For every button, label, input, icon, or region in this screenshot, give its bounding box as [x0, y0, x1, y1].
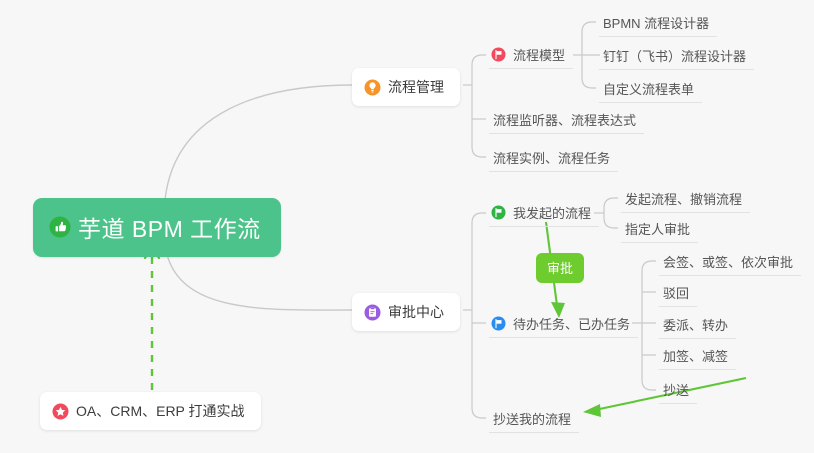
lightbulb-icon: [364, 79, 381, 96]
node-instance-task[interactable]: 流程实例、流程任务: [489, 145, 618, 172]
flag-icon: [491, 316, 506, 331]
node-listener-expression-label: 流程监听器、流程表达式: [493, 110, 636, 129]
mindmap-canvas[interactable]: 芋道 BPM 工作流 流程管理 流程模型 BPMN 流程设计器 钉钉（飞书）流程: [0, 0, 814, 453]
node-add-remove-sign-label: 加签、减签: [663, 346, 728, 365]
edge-process-management-bracket: [472, 55, 486, 157]
branch-process-management[interactable]: 流程管理: [352, 68, 460, 106]
flag-icon: [491, 47, 506, 62]
root-node[interactable]: 芋道 BPM 工作流: [33, 198, 281, 257]
node-add-remove-sign[interactable]: 加签、减签: [659, 343, 736, 370]
node-my-started-process-label: 我发起的流程: [513, 203, 591, 222]
node-reject[interactable]: 驳回: [659, 280, 697, 307]
node-multi-approval[interactable]: 会签、或签、依次审批: [659, 249, 801, 276]
node-todo-done-task-label: 待办任务、已办任务: [513, 314, 630, 333]
node-custom-process-form[interactable]: 自定义流程表单: [599, 76, 702, 103]
node-delegate-transfer[interactable]: 委派、转办: [659, 312, 736, 339]
thumbs-up-icon: [49, 216, 71, 238]
node-multi-approval-label: 会签、或签、依次审批: [663, 252, 793, 271]
node-cc-label: 抄送: [663, 380, 689, 399]
node-todo-done-task[interactable]: 待办任务、已办任务: [489, 311, 638, 338]
node-cc-to-me-process[interactable]: 抄送我的流程: [489, 406, 579, 433]
edge-process-model-bracket: [582, 22, 596, 88]
edge-todo-bracket: [642, 261, 656, 390]
node-cc[interactable]: 抄送: [659, 377, 697, 404]
node-bpmn-designer-label: BPMN 流程设计器: [603, 13, 709, 32]
node-assignee-approval[interactable]: 指定人审批: [621, 216, 698, 243]
node-reject-label: 驳回: [663, 283, 689, 302]
star-icon: [52, 403, 69, 420]
node-dingtalk-feishu-designer[interactable]: 钉钉（飞书）流程设计器: [599, 43, 754, 70]
edge-root-to-process-management: [165, 85, 352, 200]
node-process-model-label: 流程模型: [513, 45, 565, 64]
approval-badge-label: 审批: [547, 258, 573, 277]
edge-my-started-bracket: [604, 198, 618, 228]
node-start-cancel-process-label: 发起流程、撤销流程: [625, 189, 742, 208]
node-instance-task-label: 流程实例、流程任务: [493, 148, 610, 167]
clipboard-icon: [364, 304, 381, 321]
flag-icon: [491, 205, 506, 220]
node-bpmn-designer[interactable]: BPMN 流程设计器: [599, 10, 717, 37]
branch-approval-center-label: 审批中心: [388, 302, 444, 322]
node-process-model[interactable]: 流程模型: [489, 42, 573, 69]
node-dingtalk-feishu-designer-label: 钉钉（飞书）流程设计器: [603, 46, 746, 65]
node-my-started-process[interactable]: 我发起的流程: [489, 200, 599, 227]
root-label: 芋道 BPM 工作流: [78, 210, 261, 244]
node-custom-process-form-label: 自定义流程表单: [603, 79, 694, 98]
branch-approval-center[interactable]: 审批中心: [352, 293, 460, 331]
edge-approval-center-bracket: [472, 213, 486, 418]
approval-badge[interactable]: 审批: [536, 253, 584, 283]
node-listener-expression[interactable]: 流程监听器、流程表达式: [489, 107, 644, 134]
node-start-cancel-process[interactable]: 发起流程、撤销流程: [621, 186, 750, 213]
node-delegate-transfer-label: 委派、转办: [663, 315, 728, 334]
node-cc-to-me-process-label: 抄送我的流程: [493, 409, 571, 428]
arrow-cc-to-ccmine-head: [583, 404, 601, 417]
integration-note[interactable]: OA、CRM、ERP 打通实战: [40, 392, 261, 430]
integration-note-label: OA、CRM、ERP 打通实战: [76, 401, 245, 421]
branch-process-management-label: 流程管理: [388, 77, 444, 97]
node-assignee-approval-label: 指定人审批: [625, 219, 690, 238]
